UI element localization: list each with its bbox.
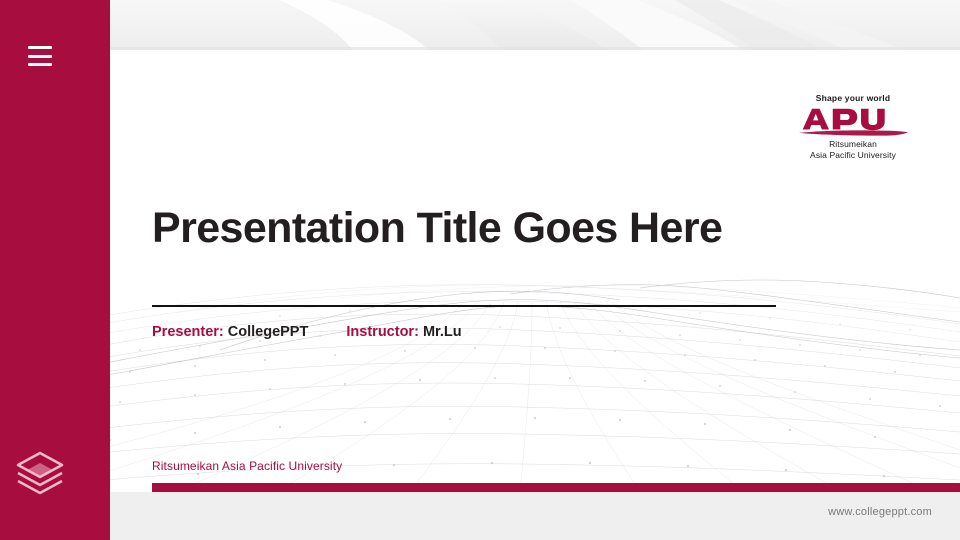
apu-subtitle: Ritsumeikan Asia Pacific University (788, 139, 918, 160)
apu-logo: Shape your world Ritsumeikan Asia Pacifi… (788, 93, 918, 165)
slide-footer-text: Ritsumeikan Asia Pacific University (152, 459, 342, 473)
presentation-preview-window: Shape your world Ritsumeikan Asia Pacifi… (0, 0, 960, 540)
hamburger-bar-1 (28, 46, 52, 49)
apu-subtitle-line1: Ritsumeikan (829, 139, 877, 149)
header-decoration-band (110, 0, 960, 50)
presenter-value: CollegePPT (228, 324, 309, 340)
left-rail (0, 0, 110, 540)
hamburger-bar-2 (28, 55, 52, 58)
apu-tagline: Shape your world (788, 93, 918, 104)
instructor-value: Mr.Lu (423, 324, 462, 340)
hamburger-bar-3 (28, 63, 52, 66)
apu-wordmark-icon (797, 105, 910, 137)
apu-subtitle-line2: Asia Pacific University (810, 150, 896, 160)
slide-canvas[interactable]: Shape your world Ritsumeikan Asia Pacifi… (80, 50, 960, 492)
title-divider-rule (152, 305, 776, 307)
layers-stack-icon[interactable] (12, 445, 68, 501)
slide-accent-bar (152, 483, 960, 492)
presenter-label: Presenter: (152, 324, 224, 340)
footer-url[interactable]: www.collegeppt.com (828, 506, 932, 518)
slide-byline[interactable]: Presenter: CollegePPT Instructor: Mr.Lu (152, 322, 462, 342)
instructor-label: Instructor: (346, 324, 419, 340)
hamburger-menu-icon[interactable] (28, 46, 52, 66)
header-swoosh-graphic (110, 0, 960, 50)
slide-title[interactable]: Presentation Title Goes Here (152, 202, 892, 254)
